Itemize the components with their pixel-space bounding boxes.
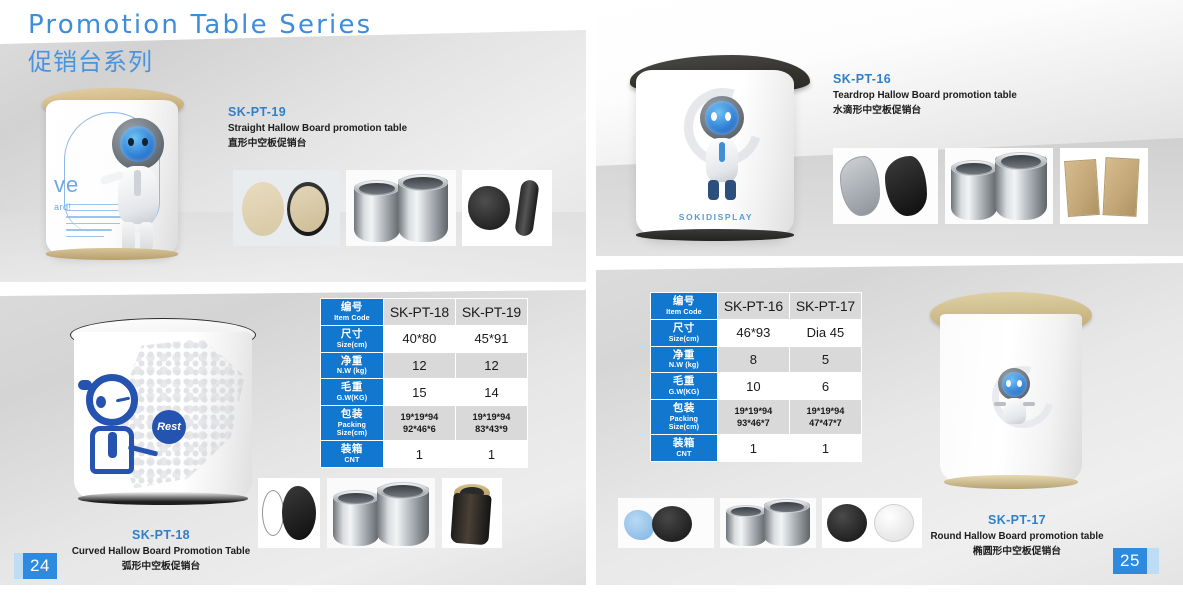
cell-value: 10 xyxy=(718,373,789,399)
cell-value: SK-PT-16 xyxy=(718,293,789,319)
product-name-cn: 直形中空板促销台 xyxy=(228,137,407,152)
page-number-left: 24 xyxy=(14,553,57,579)
table-row: 装箱 CNT 1 1 xyxy=(651,435,861,461)
brand-label: SOKIDISPLAY xyxy=(676,212,756,222)
row-label: 尺寸 Size(cm) xyxy=(321,326,383,352)
spec-table-left: 编号 Item Code SK-PT-18 SK-PT-19 尺寸 Size(c… xyxy=(320,298,528,468)
cell-value: SK-PT-17 xyxy=(790,293,861,319)
page-title: Promotion Table Series 促销台系列 xyxy=(28,10,372,77)
table-base xyxy=(944,475,1078,489)
row-label: 装箱 CNT xyxy=(321,441,383,467)
table-row: 尺寸 Size(cm) 40*80 45*91 xyxy=(321,326,527,352)
product-name-cn: 水滴形中空板促销台 xyxy=(833,104,1017,119)
rest-badge: Rest xyxy=(152,410,186,444)
mascot-robot-icon xyxy=(692,96,752,204)
photo-round-tops xyxy=(822,498,922,548)
photo-cylinders xyxy=(945,148,1053,224)
table-body: Rest xyxy=(74,332,252,502)
cell-value: 6 xyxy=(790,373,861,399)
page-number-value: 25 xyxy=(1113,548,1147,574)
row-label: 净重 N.W (kg) xyxy=(321,353,383,379)
row-label: 编号 Item Code xyxy=(651,293,717,319)
mascot-astronaut-icon xyxy=(98,116,176,252)
product-name-en: Curved Hallow Board Promotion Table xyxy=(46,545,276,560)
table-base xyxy=(46,248,178,260)
product-render-sk-pt-18: Rest xyxy=(52,300,282,520)
table-base xyxy=(636,229,794,241)
cell-value: 12 xyxy=(384,353,455,379)
mascot-outline-icon xyxy=(78,372,162,492)
row-label: 尺寸 Size(cm) xyxy=(651,320,717,346)
catalog-page: Promotion Table Series 促销台系列 ve ard! xyxy=(0,0,1183,600)
caption-sk-pt-16: SK-PT-16 Teardrop Hallow Board promotion… xyxy=(833,72,1017,118)
cell-value: 5 xyxy=(790,347,861,373)
cell-value: 19*19*9492*46*6 xyxy=(384,406,455,440)
graphic-text-big: ve xyxy=(54,172,79,198)
cell-value: 1 xyxy=(718,435,789,461)
spec-table-right: 编号 Item Code SK-PT-16 SK-PT-17 尺寸 Size(c… xyxy=(650,292,862,462)
product-name-en: Round Hallow Board promotion table xyxy=(912,530,1122,545)
photo-teardrop-tops xyxy=(833,148,938,224)
page-badge-bar xyxy=(1147,548,1159,574)
product-name-en: Teardrop Hallow Board promotion table xyxy=(833,89,1017,104)
cell-value: SK-PT-18 xyxy=(384,299,455,325)
page-title-cn: 促销台系列 xyxy=(28,42,372,77)
cell-value: 14 xyxy=(456,379,527,405)
caption-sk-pt-19: SK-PT-19 Straight Hallow Board promotion… xyxy=(228,105,407,151)
cell-value: 19*19*9483*43*9 xyxy=(456,406,527,440)
photo-strip-sk-pt-18 xyxy=(258,478,502,548)
table-row: 毛重 G.W(KG) 15 14 xyxy=(321,379,527,405)
table-row: 净重 N.W (kg) 12 12 xyxy=(321,353,527,379)
graphic-text-small: ard! xyxy=(54,202,79,212)
cell-value: 40*80 xyxy=(384,326,455,352)
photo-strip-sk-pt-16 xyxy=(833,148,1148,224)
product-code: SK-PT-18 xyxy=(46,528,276,542)
row-label: 净重 N.W (kg) xyxy=(651,347,717,373)
product-code: SK-PT-19 xyxy=(228,105,407,119)
photo-cylinders xyxy=(346,170,456,246)
page-title-en: Promotion Table Series xyxy=(28,10,372,40)
page-badge-bar xyxy=(14,553,23,579)
page-number-right: 25 xyxy=(1113,548,1159,574)
caption-sk-pt-18: SK-PT-18 Curved Hallow Board Promotion T… xyxy=(46,528,276,574)
table-row: 编号 Item Code SK-PT-16 SK-PT-17 xyxy=(651,293,861,319)
row-label: 编号 Item Code xyxy=(321,299,383,325)
table-body: SOKIDISPLAY xyxy=(636,70,794,238)
cell-value: 45*91 xyxy=(456,326,527,352)
cell-value: 46*93 xyxy=(718,320,789,346)
table-row: 毛重 G.W(KG) 10 6 xyxy=(651,373,861,399)
cell-value: Dia 45 xyxy=(790,320,861,346)
product-render-sk-pt-16: SOKIDISPLAY xyxy=(610,10,830,250)
cell-value: 19*19*9493*46*7 xyxy=(718,400,789,434)
product-render-sk-pt-17 xyxy=(916,280,1116,510)
row-label: 包装 Packing Size(cm) xyxy=(321,406,383,440)
product-name-cn: 椭圆形中空板促销台 xyxy=(912,545,1122,560)
table-row: 装箱 CNT 1 1 xyxy=(321,441,527,467)
cell-value: 19*19*9447*47*7 xyxy=(790,400,861,434)
photo-covers xyxy=(618,498,714,548)
photo-cylinders xyxy=(720,498,816,548)
row-label: 装箱 CNT xyxy=(651,435,717,461)
mascot-robot-icon xyxy=(992,368,1036,434)
table-row: 包装 Packing Size(cm) 19*19*9492*46*6 19*1… xyxy=(321,406,527,440)
cell-value: SK-PT-19 xyxy=(456,299,527,325)
table-body: ve ard! xyxy=(46,100,178,256)
photo-strip-sk-pt-19 xyxy=(233,170,552,246)
cell-value: 8 xyxy=(718,347,789,373)
row-label: 毛重 G.W(KG) xyxy=(321,379,383,405)
table-body xyxy=(940,314,1082,484)
table-row: 包装 Packing Size(cm) 19*19*9493*46*7 19*1… xyxy=(651,400,861,434)
photo-strip-sk-pt-17 xyxy=(618,498,922,548)
product-name-en: Straight Hallow Board promotion table xyxy=(228,122,407,137)
product-name-cn: 弧形中空板促销台 xyxy=(46,560,276,575)
photo-tabletops xyxy=(233,170,340,246)
cell-value: 1 xyxy=(456,441,527,467)
photo-rolled-bag xyxy=(442,478,502,548)
row-label: 毛重 G.W(KG) xyxy=(651,373,717,399)
row-label: 包装 Packing Size(cm) xyxy=(651,400,717,434)
product-code: SK-PT-16 xyxy=(833,72,1017,86)
cell-value: 12 xyxy=(456,353,527,379)
product-code: SK-PT-17 xyxy=(912,513,1122,527)
cell-value: 1 xyxy=(384,441,455,467)
graphic-text: ve ard! xyxy=(54,172,79,212)
photo-carry-bag xyxy=(462,170,552,246)
photo-cylinders xyxy=(327,478,435,548)
table-row: 净重 N.W (kg) 8 5 xyxy=(651,347,861,373)
table-base xyxy=(78,492,248,505)
table-row: 尺寸 Size(cm) 46*93 Dia 45 xyxy=(651,320,861,346)
photo-cartons xyxy=(1060,148,1148,224)
cell-value: 15 xyxy=(384,379,455,405)
cell-value: 1 xyxy=(790,435,861,461)
page-number-value: 24 xyxy=(23,553,57,579)
table-row: 编号 Item Code SK-PT-18 SK-PT-19 xyxy=(321,299,527,325)
caption-sk-pt-17: SK-PT-17 Round Hallow Board promotion ta… xyxy=(912,513,1122,559)
